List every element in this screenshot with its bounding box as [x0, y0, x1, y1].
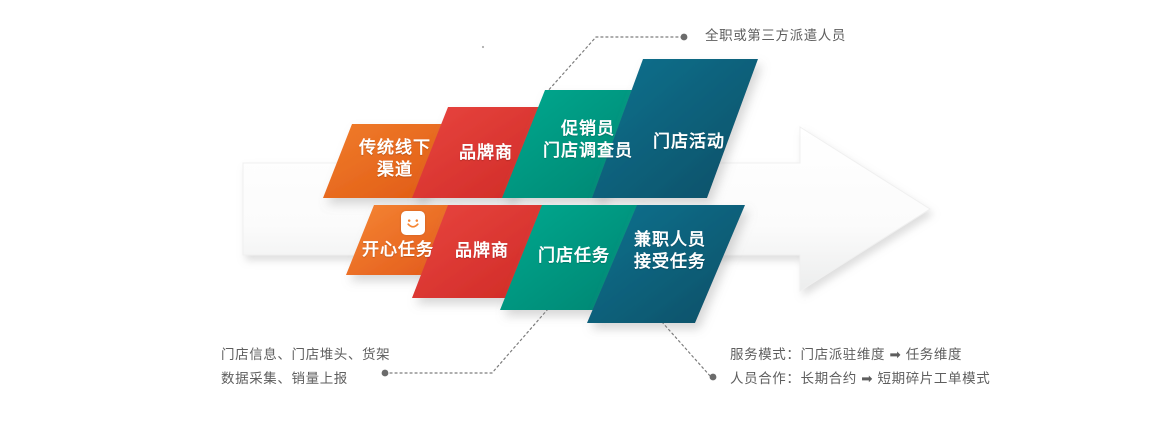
connector-dot-bottom-right	[710, 374, 717, 381]
decor-speck	[482, 46, 484, 48]
annotation-service-mode: 服务模式：门店派驻维度 ➡ 任务维度 人员合作：长期合约 ➡ 短期碎片工单模式	[730, 343, 990, 391]
annotation-staffing: 全职或第三方派遣人员	[705, 24, 846, 48]
connector-bottom-left	[388, 309, 548, 373]
happy-face-icon	[401, 211, 425, 235]
connector-dot-top-right	[681, 34, 688, 41]
annotation-data-collection: 门店信息、门店堆头、货架 数据采集、销量上报	[221, 343, 390, 391]
connector-bottom-right	[662, 322, 711, 377]
top-row-chevrons	[323, 59, 758, 198]
diagram-canvas: 传统线下 渠道 品牌商 促销员 门店调查员 门店活动 开心任务 品牌商 门店任务…	[0, 0, 1150, 430]
